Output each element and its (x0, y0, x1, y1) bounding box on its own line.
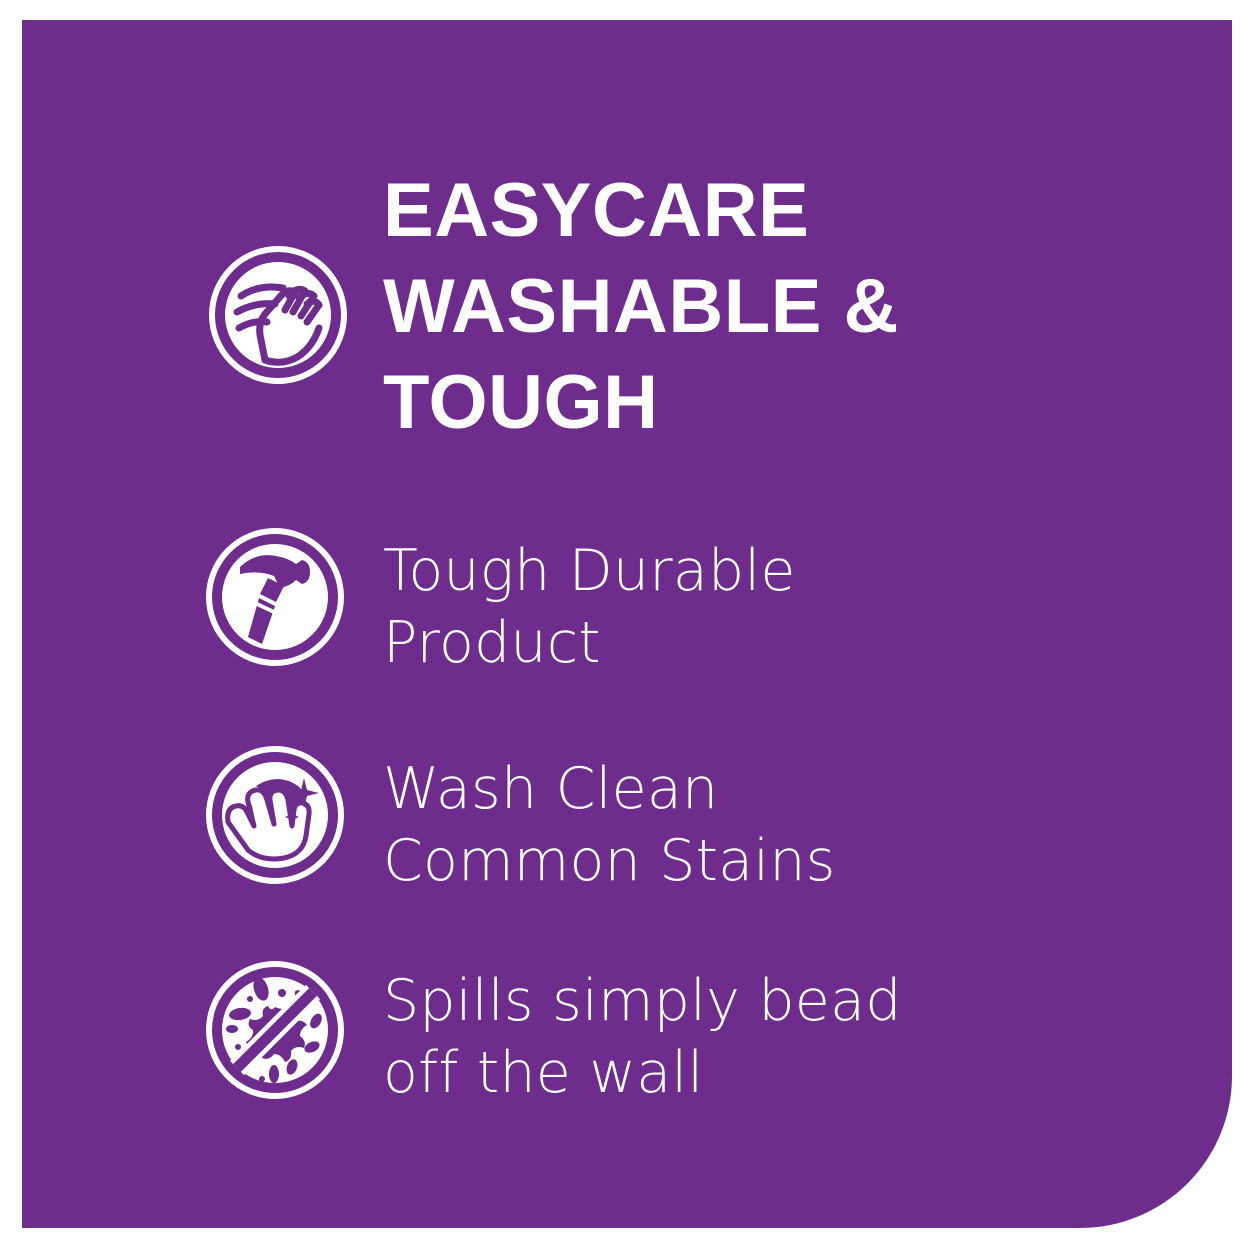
no-splatter-icon (204, 959, 346, 1101)
washing-hands-icon (207, 244, 349, 386)
panel-content: EASYCARE WASHABLE & TOUGH Tough Durable … (22, 20, 1232, 1228)
page-title: EASYCARE WASHABLE & TOUGH (383, 163, 1083, 451)
feature-1-text: Tough Durable Product (383, 535, 796, 679)
hammer-icon (204, 526, 346, 668)
hand-wipe-sparkle-icon (204, 744, 346, 886)
purple-panel: EASYCARE WASHABLE & TOUGH Tough Durable … (22, 20, 1232, 1228)
feature-3-text: Spills simply bead off the wall (383, 965, 902, 1109)
promo-graphic: EASYCARE WASHABLE & TOUGH Tough Durable … (0, 0, 1250, 1250)
feature-2-text: Wash Clean Common Stains (383, 753, 836, 897)
